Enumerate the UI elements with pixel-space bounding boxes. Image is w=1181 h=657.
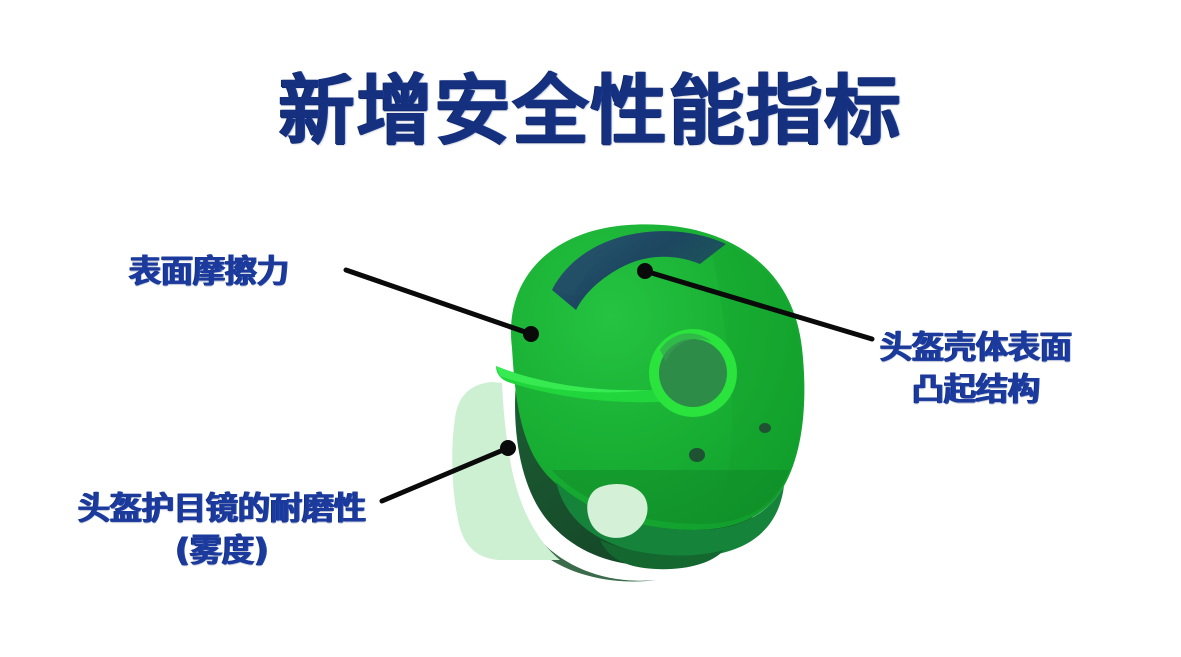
leader-dot-visor <box>500 440 516 456</box>
leader-line-visor <box>382 448 508 501</box>
leader-line-friction <box>346 270 531 334</box>
callout-label-surface-friction: 表面摩擦力 <box>129 250 289 292</box>
leader-dots <box>500 263 653 456</box>
callout-label-visor-abrasion-resistance: 头盔护目镜的耐磨性 (雾度) <box>78 487 366 571</box>
rivet-icon <box>689 448 705 462</box>
leader-line-shell-bump <box>645 271 872 339</box>
callout-line: (雾度) <box>78 529 366 571</box>
leader-dot-shell-bump <box>637 263 653 279</box>
chin-strap-slot <box>587 484 647 538</box>
interior-liner <box>500 383 768 582</box>
top-vent-stripe <box>552 231 726 310</box>
callout-line: 头盔护目镜的耐磨性 <box>78 489 366 527</box>
ear-cup <box>649 329 737 417</box>
leader-dot-friction <box>523 326 539 342</box>
leader-lines <box>346 270 872 501</box>
slide-canvas: 新增安全性能指标 <box>0 0 1181 657</box>
page-title: 新增安全性能指标 <box>0 68 1181 154</box>
brim-ridge <box>496 366 686 402</box>
helmet-shell <box>511 200 860 569</box>
callout-line: 表面摩擦力 <box>129 252 289 290</box>
callout-line: 头盔壳体表面 <box>880 328 1072 366</box>
callout-line: 凸起结构 <box>880 368 1072 410</box>
visor <box>452 382 560 560</box>
rivet-icon <box>759 423 771 433</box>
callout-label-shell-surface-bump: 头盔壳体表面 凸起结构 <box>880 326 1072 410</box>
